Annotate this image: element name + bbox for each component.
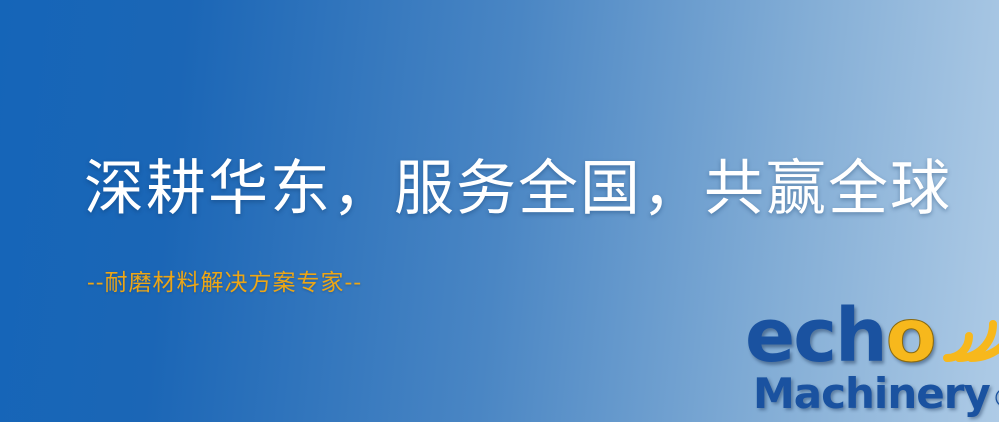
echo-machinery-logo: echo Machinery® xyxy=(745,300,999,422)
banner-subtitle: --耐磨材料解决方案专家-- xyxy=(87,268,362,298)
signal-waves-icon xyxy=(931,296,999,362)
banner-headline: 深耕华东，服务全国，共赢全球 xyxy=(84,152,952,226)
logo-wordmark-o: o xyxy=(886,300,935,372)
logo-tagline-row: Machinery® xyxy=(753,370,999,418)
logo-wordmark-ech: ech xyxy=(745,300,886,372)
logo-wordmark: echo xyxy=(745,300,935,372)
logo-tagline-machinery: Machinery xyxy=(753,370,990,418)
registered-trademark-symbol: ® xyxy=(990,384,999,418)
promo-banner: 深耕华东，服务全国，共赢全球 --耐磨材料解决方案专家-- echo Machi… xyxy=(0,0,999,422)
